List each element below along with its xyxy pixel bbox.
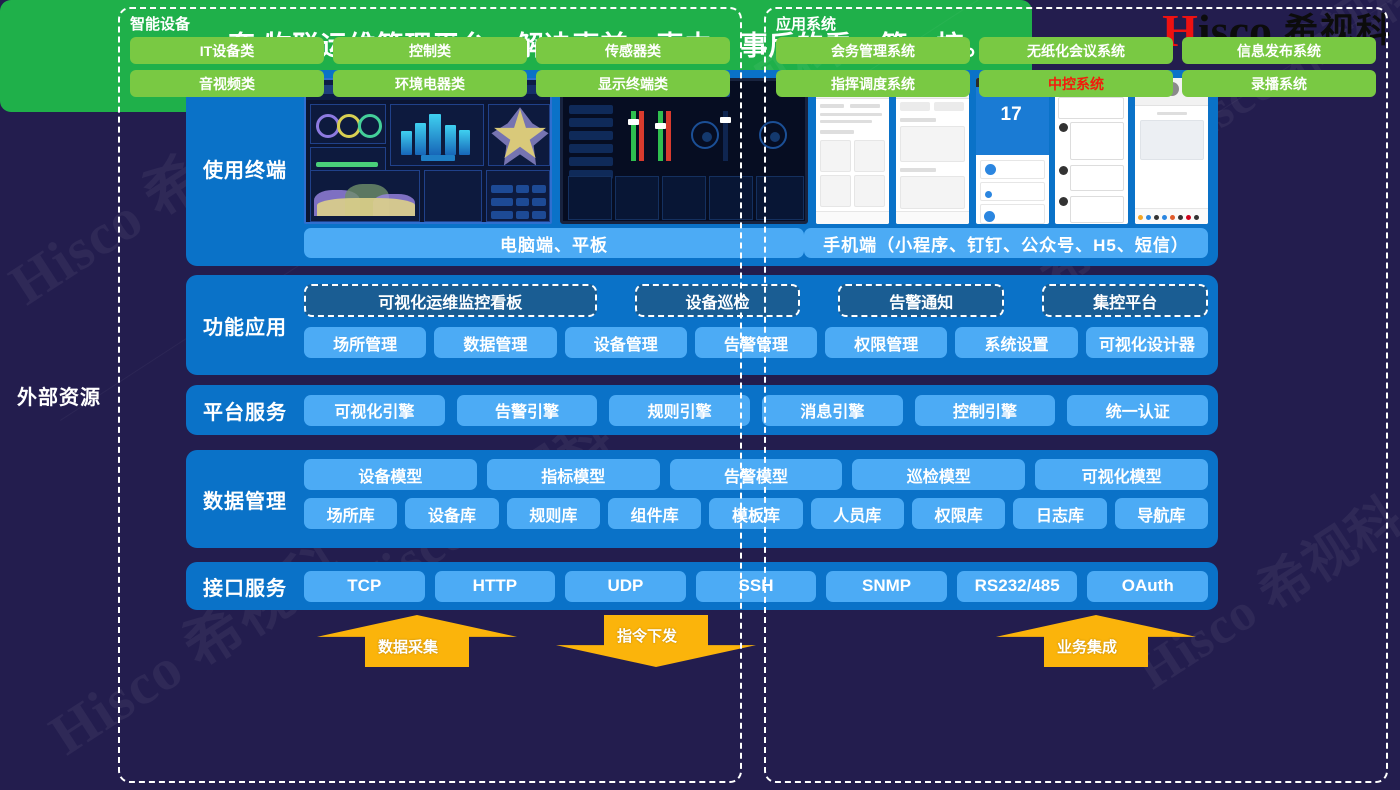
external-item-1-1-2[interactable]: 控制类 — [333, 37, 527, 64]
external-item-1-1-1[interactable]: IT设备类 — [130, 37, 324, 64]
external-row-1-1: IT设备类控制类传感器类 — [130, 37, 730, 64]
external-item-2-2-2[interactable]: 中控系统 — [979, 70, 1173, 97]
panel-external-resources: 外部资源 智能设备IT设备类控制类传感器类音视频类环境电器类显示终端类应用系统会… — [0, 0, 1032, 112]
slide-canvas: Hisco 希视科 Hisco 希视科 Hisco 希视科 Hisco 希视科 … — [0, 0, 1400, 790]
external-group-1: 智能设备IT设备类控制类传感器类音视频类环境电器类显示终端类 — [118, 7, 742, 783]
external-item-2-1-1[interactable]: 会务管理系统 — [776, 37, 970, 64]
external-row-1-2: 音视频类环境电器类显示终端类 — [130, 70, 730, 97]
panel-label-external-resources: 外部资源 — [0, 0, 118, 790]
external-item-2-2-3[interactable]: 录播系统 — [1182, 70, 1376, 97]
external-row-2-1: 会务管理系统无纸化会议系统信息发布系统 — [776, 37, 1376, 64]
external-group-2: 应用系统会务管理系统无纸化会议系统信息发布系统指挥调度系统中控系统录播系统 — [764, 7, 1388, 783]
external-group-grid-2: 会务管理系统无纸化会议系统信息发布系统指挥调度系统中控系统录播系统 — [776, 37, 1376, 97]
external-item-2-1-3[interactable]: 信息发布系统 — [1182, 37, 1376, 64]
external-resource-groups: 智能设备IT设备类控制类传感器类音视频类环境电器类显示终端类应用系统会务管理系统… — [118, 7, 1388, 783]
external-item-1-2-2[interactable]: 环境电器类 — [333, 70, 527, 97]
external-item-1-2-3[interactable]: 显示终端类 — [536, 70, 730, 97]
external-row-2-2: 指挥调度系统中控系统录播系统 — [776, 70, 1376, 97]
external-group-grid-1: IT设备类控制类传感器类音视频类环境电器类显示终端类 — [130, 37, 730, 97]
external-item-2-2-1[interactable]: 指挥调度系统 — [776, 70, 970, 97]
external-item-1-2-1[interactable]: 音视频类 — [130, 70, 324, 97]
external-group-title-1: 智能设备 — [130, 13, 730, 34]
external-item-1-1-3[interactable]: 传感器类 — [536, 37, 730, 64]
external-group-title-2: 应用系统 — [776, 13, 1376, 34]
external-item-2-1-2[interactable]: 无纸化会议系统 — [979, 37, 1173, 64]
